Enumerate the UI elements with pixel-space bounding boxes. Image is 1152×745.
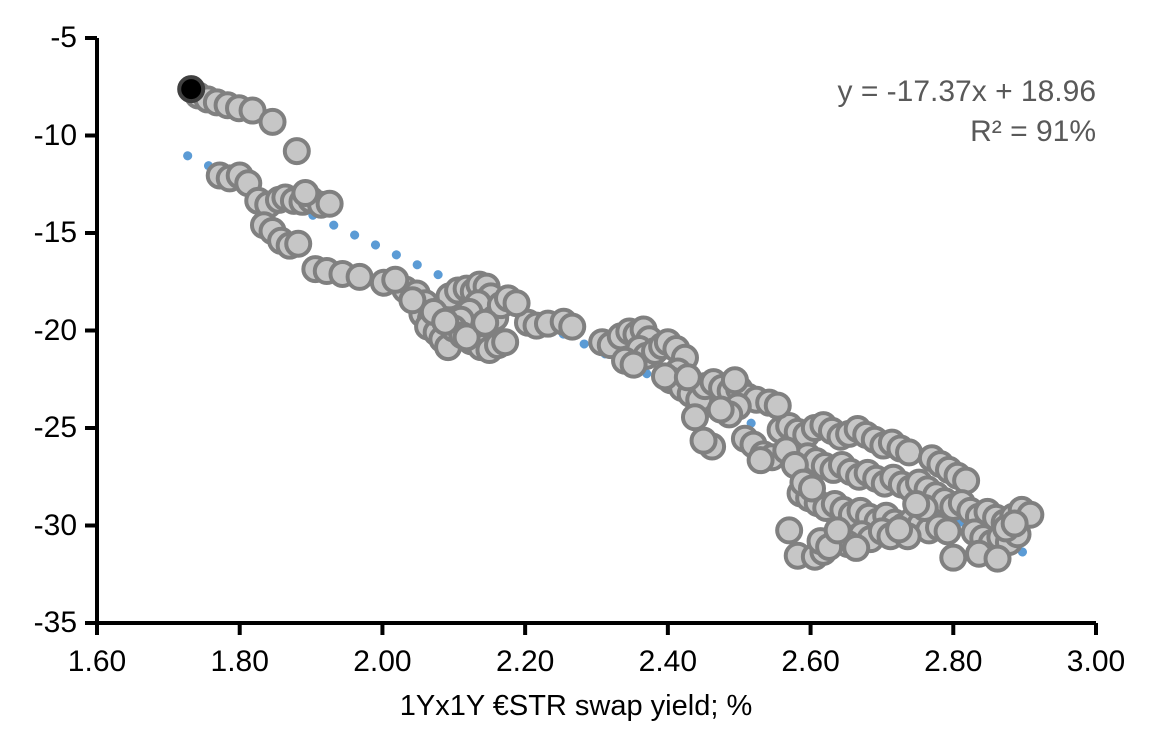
scatter-point <box>622 353 646 377</box>
scatter-point <box>941 546 965 570</box>
scatter-point <box>383 268 407 292</box>
scatter-point <box>676 365 700 389</box>
y-axis-tick-label: -5 <box>0 23 77 53</box>
x-axis-tick-label: 2.20 <box>496 647 554 677</box>
scatter-point <box>936 519 960 543</box>
x-axis-tick-label: 3.00 <box>1067 647 1125 677</box>
y-axis-tick-label: -20 <box>0 316 77 346</box>
x-axis-tick-label: 2.00 <box>353 647 411 677</box>
scatter-point <box>887 517 911 541</box>
scatter-point <box>904 492 928 516</box>
highlighted-scatter-point <box>179 77 203 101</box>
scatter-point <box>285 139 309 163</box>
scatter-point <box>433 310 457 334</box>
x-axis-tick-label: 1.80 <box>211 647 269 677</box>
scatter-point <box>683 405 707 429</box>
y-axis-tick-label: -10 <box>0 121 77 151</box>
scatter-point <box>560 315 584 339</box>
scatter-point <box>348 265 372 289</box>
y-axis-tick-label: -30 <box>0 511 77 541</box>
r-squared-text: R² = 91% <box>837 112 1096 152</box>
y-axis-tick-label: -25 <box>0 413 77 443</box>
scatter-point <box>777 518 801 542</box>
scatter-point <box>692 429 716 453</box>
scatter-points <box>186 84 1042 571</box>
scatter-point <box>286 232 310 256</box>
x-axis-tick-label: 2.60 <box>781 647 839 677</box>
x-axis-tick-label: 2.40 <box>639 647 697 677</box>
scatter-point <box>493 330 517 354</box>
scatter-point <box>709 397 733 421</box>
scatter-point <box>1003 512 1027 536</box>
scatter-point <box>954 469 978 493</box>
scatter-chart: -5-10-15-20-25-30-35 1.601.802.002.202.4… <box>0 0 1152 745</box>
scatter-point <box>400 288 424 312</box>
y-axis-tick-label: -35 <box>0 608 77 638</box>
scatter-point <box>293 181 317 205</box>
scatter-point <box>318 192 342 216</box>
scatter-point <box>986 547 1010 571</box>
scatter-point <box>749 448 773 472</box>
scatter-point <box>826 518 850 542</box>
x-axis-tick-label: 2.80 <box>924 647 982 677</box>
scatter-point <box>473 311 497 335</box>
scatter-point <box>723 368 747 392</box>
y-axis-tick-label: -15 <box>0 218 77 248</box>
regression-equation-text: y = -17.37x + 18.96 <box>837 72 1096 112</box>
x-axis-title: 1Yx1Y €STR swap yield; % <box>0 690 1152 723</box>
scatter-point <box>766 394 790 418</box>
scatter-point <box>800 476 824 500</box>
x-axis-tick-label: 1.60 <box>68 647 126 677</box>
scatter-point <box>897 440 921 464</box>
scatter-point <box>505 291 529 315</box>
trendline-equation-annotation: y = -17.37x + 18.96 R² = 91% <box>837 72 1096 151</box>
scatter-point <box>653 364 677 388</box>
scatter-point <box>261 110 285 134</box>
